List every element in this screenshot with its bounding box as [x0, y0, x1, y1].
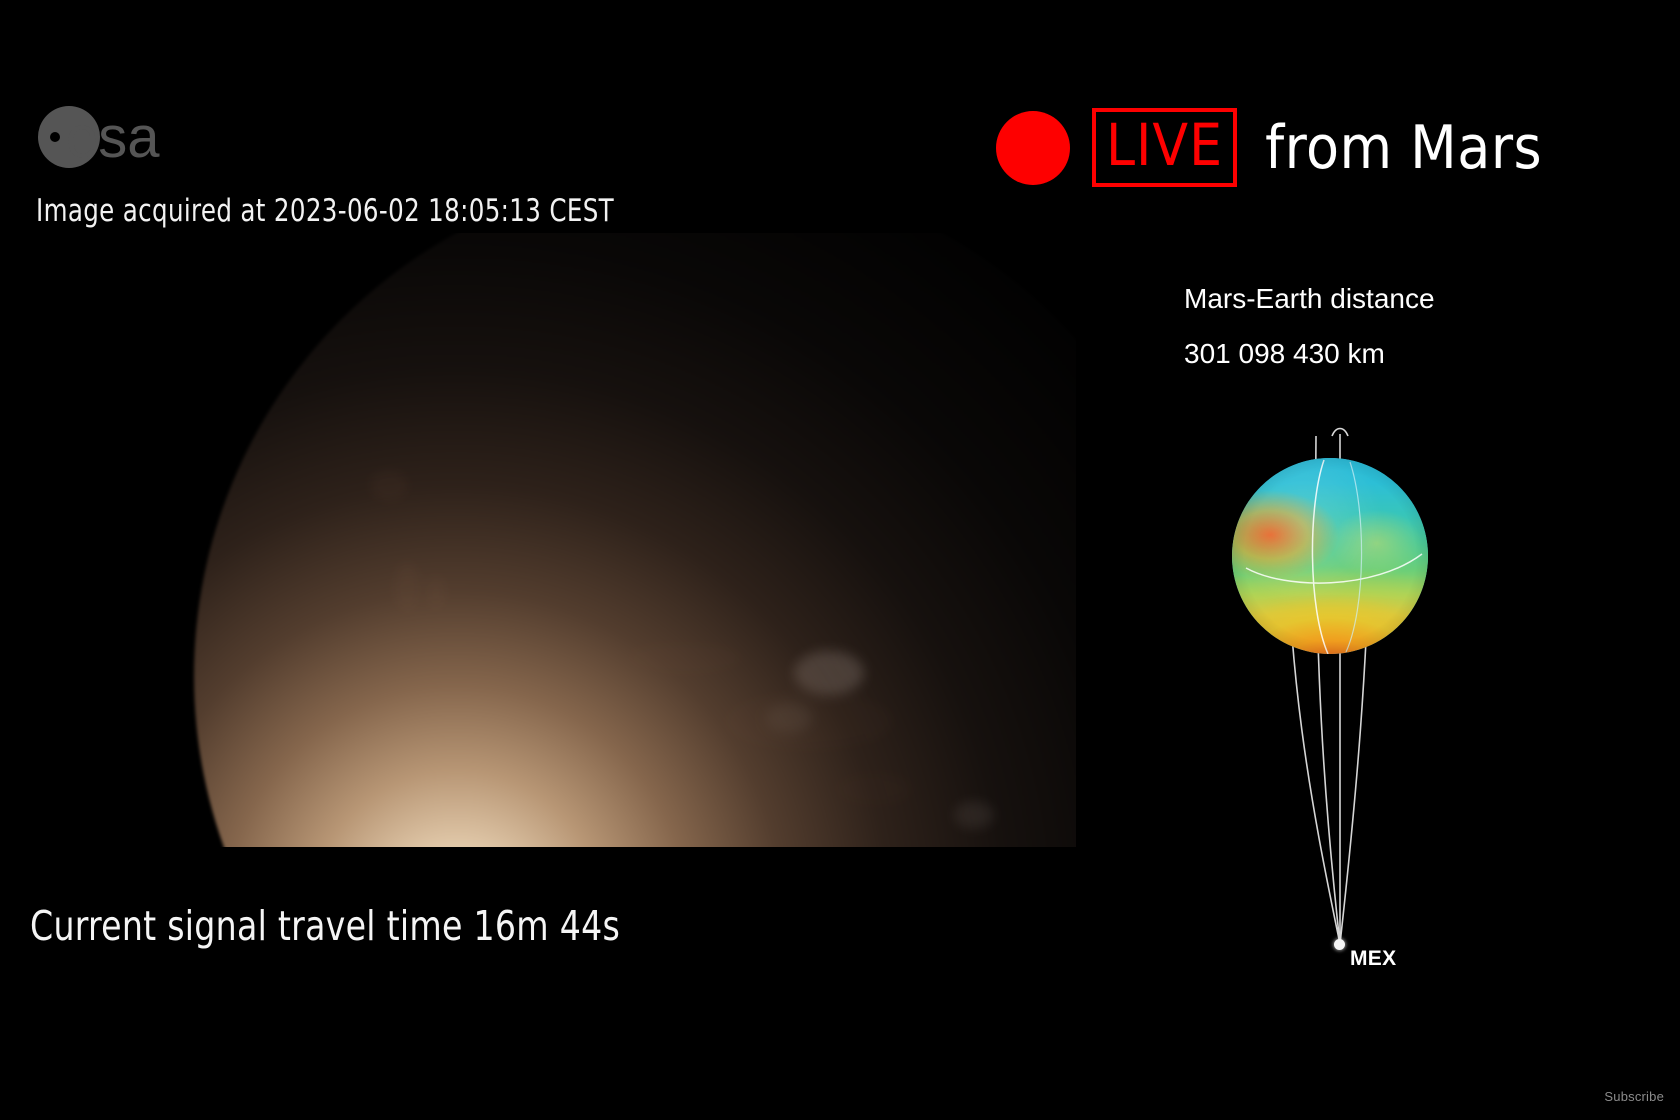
page-title: from Mars: [1265, 113, 1542, 183]
esa-logo: esa: [36, 104, 226, 170]
acquisition-timestamp: Image acquired at 2023-06-02 18:05:13 CE…: [36, 193, 614, 229]
subscribe-button[interactable]: Subscribe: [1604, 1089, 1664, 1104]
signal-travel-time: Current signal travel time 16m 44s: [30, 902, 620, 950]
live-badge: LIVE: [1092, 108, 1237, 187]
live-banner: LIVE from Mars: [996, 108, 1542, 187]
orbit-diagram: MEX: [1190, 420, 1520, 1000]
distance-readout: Mars-Earth distance 301 098 430 km: [1184, 272, 1435, 381]
live-from-mars-stream: esa Image acquired at 2023-06-02 18:05:1…: [0, 0, 1680, 1120]
live-record-dot-icon: [996, 111, 1070, 185]
distance-value: 301 098 430 km: [1184, 327, 1435, 382]
mex-spacecraft-marker: [1334, 939, 1345, 950]
mars-globe-topography: [1232, 458, 1428, 654]
mex-label: MEX: [1350, 947, 1396, 971]
vmc-mars-image: [0, 233, 1076, 847]
svg-text:esa: esa: [66, 105, 160, 170]
distance-label: Mars-Earth distance: [1184, 272, 1435, 327]
mars-limb-glow: [194, 233, 1076, 847]
